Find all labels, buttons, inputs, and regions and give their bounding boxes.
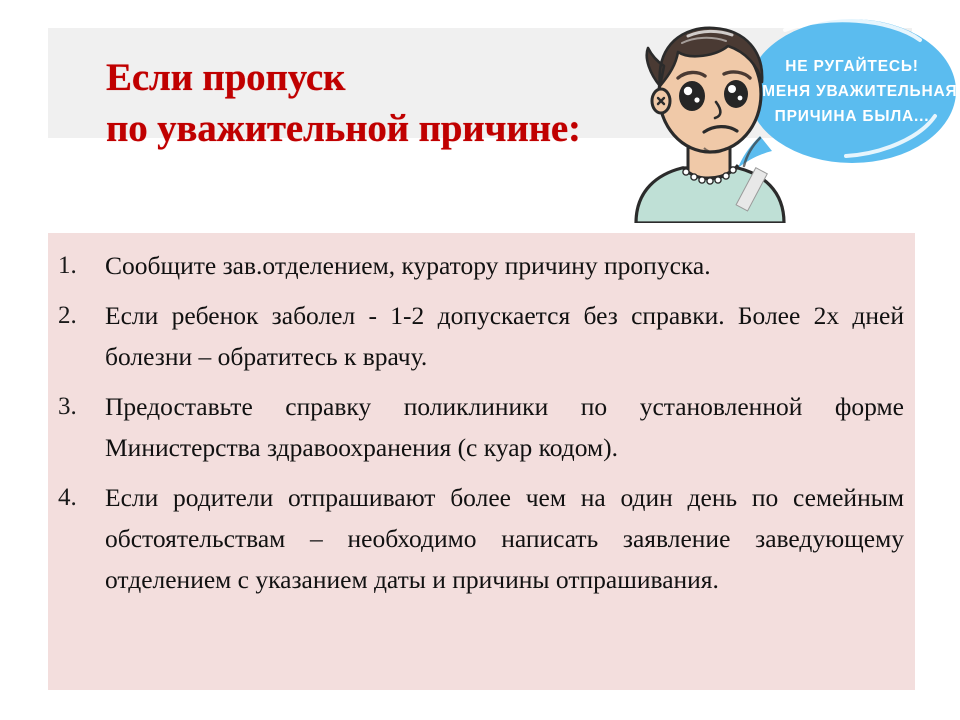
list-item-text: Если ребенок заболел - 1-2 допускается б… [105, 295, 911, 377]
list-item-text: Предоставьте справку поликлиники по уста… [105, 386, 911, 468]
list-item-number: 1. [58, 245, 105, 286]
list-item-number: 4. [58, 477, 105, 518]
list-item-number: 3. [58, 386, 105, 427]
list-item: 2. Если ребенок заболел - 1-2 допускаетс… [58, 295, 911, 377]
list-item: 4. Если родители отпрашивают более чем н… [58, 477, 911, 600]
list-item-text: Сообщите зав.отделением, куратору причин… [105, 245, 911, 286]
list-item-number: 2. [58, 295, 105, 336]
list-item: 3. Предоставьте справку поликлиники по у… [58, 386, 911, 468]
instruction-list: 1. Сообщите зав.отделением, куратору при… [58, 245, 911, 609]
content-card: 1. Сообщите зав.отделением, куратору при… [48, 233, 915, 690]
page-title: Если пропуск по уважительной причине: [106, 52, 726, 154]
list-item-text: Если родители отпрашивают более чем на о… [105, 477, 911, 600]
list-item: 1. Сообщите зав.отделением, куратору при… [58, 245, 911, 286]
title-band: Если пропуск по уважительной причине: [48, 28, 912, 138]
